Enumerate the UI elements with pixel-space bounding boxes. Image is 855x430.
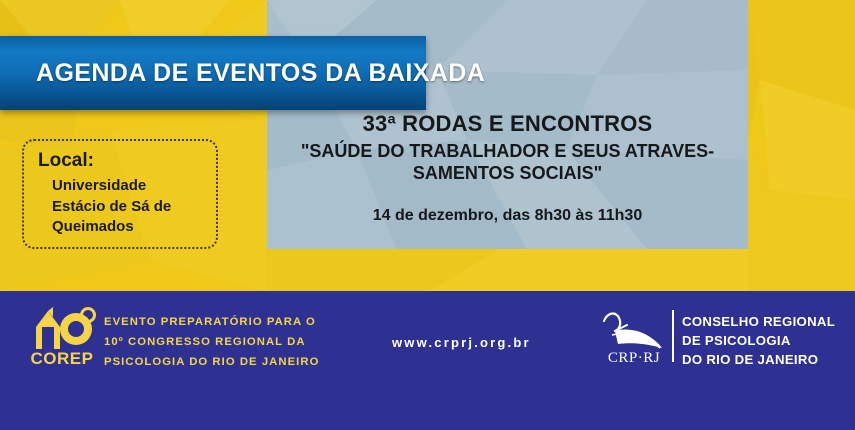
crp-logo-divider	[672, 310, 674, 362]
local-label: Local:	[38, 151, 202, 172]
event-subtitle: "SAÚDE DO TRABALHADOR E SEUS ATRAVES- SA…	[301, 141, 714, 185]
event-date: 14 de dezembro, das 8h30 às 11h30	[373, 207, 642, 225]
corep-logo-icon: COREP	[26, 305, 98, 367]
crp-line2: DE PSICOLOGIA	[682, 331, 835, 350]
event-subtitle-line1: "SAÚDE DO TRABALHADOR E SEUS ATRAVES-	[301, 141, 714, 163]
corep-line3: PSICOLOGIA DO RIO DE JANEIRO	[104, 352, 319, 372]
event-details: 33ª RODAS E ENCONTROS "SAÚDE DO TRABALHA…	[267, 0, 748, 249]
local-info-box: Local: Universidade Estácio de Sá de Que…	[22, 139, 218, 249]
event-title: 33ª RODAS E ENCONTROS	[363, 112, 653, 137]
local-address: Universidade Estácio de Sá de Queimados	[52, 176, 202, 238]
local-address-line: Queimados	[52, 217, 202, 238]
corep-description: EVENTO PREPARATÓRIO PARA O 10º CONGRESSO…	[104, 312, 319, 372]
local-address-line: Universidade	[52, 176, 202, 197]
event-poster: AGENDA DE EVENTOS DA BAIXADA Local: Univ…	[0, 0, 855, 430]
corep-line2: 10º CONGRESSO REGIONAL DA	[104, 332, 319, 352]
event-subtitle-line2: SAMENTOS SOCIAIS"	[301, 163, 714, 185]
svg-text:CRP·RJ: CRP·RJ	[608, 350, 660, 365]
corep-line1: EVENTO PREPARATÓRIO PARA O	[104, 312, 319, 332]
crp-rj-name: CONSELHO REGIONAL DE PSICOLOGIA DO RIO D…	[682, 312, 835, 369]
crp-line1: CONSELHO REGIONAL	[682, 312, 835, 331]
local-address-line: Estácio de Sá de	[52, 197, 202, 218]
website-link[interactable]: www.crprj.org.br	[392, 335, 531, 350]
crp-rj-logo-icon: CRP·RJ	[598, 307, 670, 365]
svg-text:COREP: COREP	[31, 349, 94, 367]
crp-line3: DO RIO DE JANEIRO	[682, 350, 835, 369]
